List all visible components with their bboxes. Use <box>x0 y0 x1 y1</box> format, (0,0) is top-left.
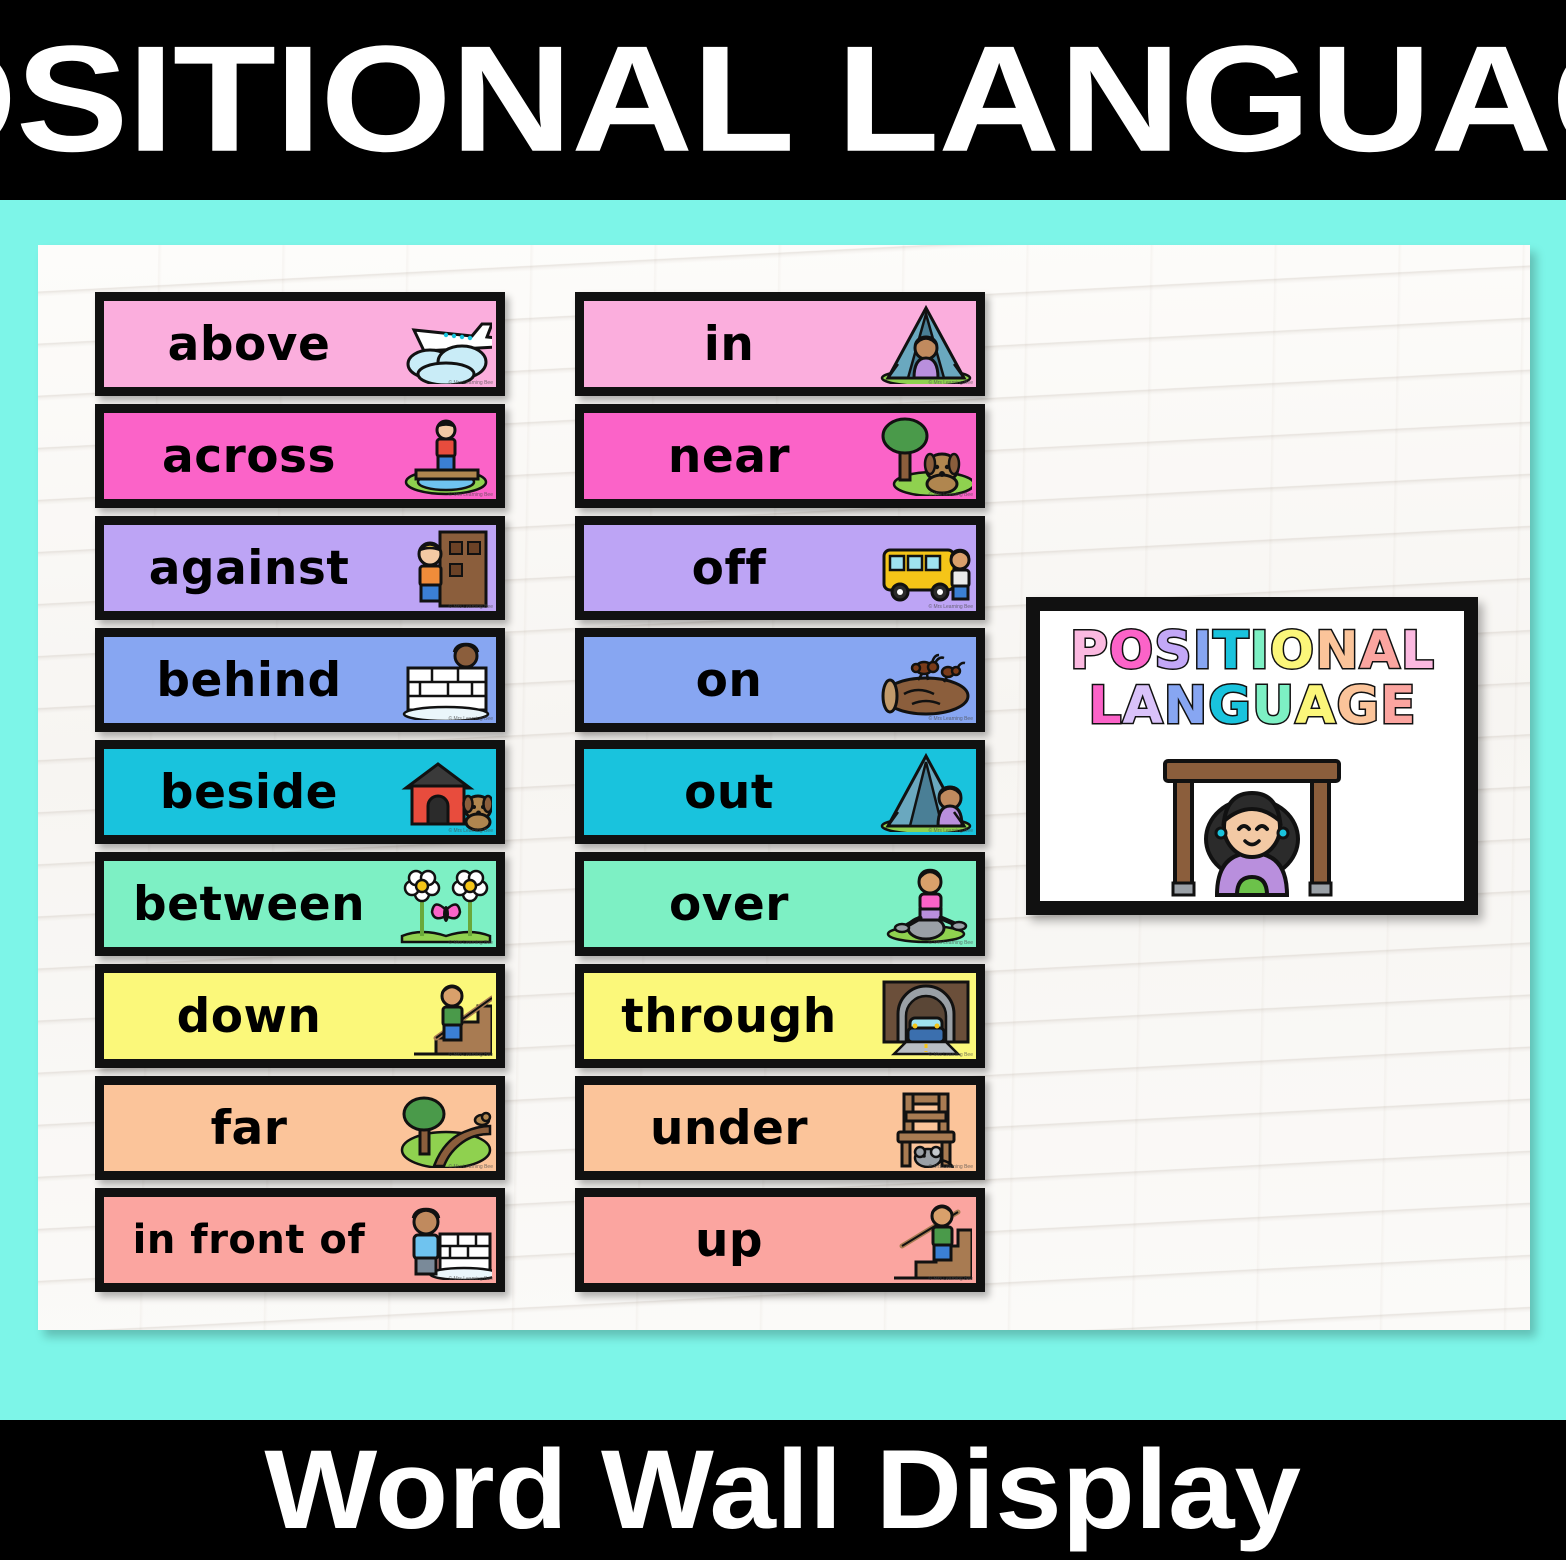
word-card-through[interactable]: through © Mrs Learning Bee <box>575 964 985 1068</box>
copyright-watermark: © Mrs Learning Bee <box>928 1052 973 1058</box>
word-card-label: off <box>584 545 880 592</box>
far-away-path-tree-icon <box>400 1088 492 1168</box>
copyright-watermark: © Mrs Learning Bee <box>448 716 493 722</box>
word-card-face: over © Mrs Learning Bee <box>584 861 976 947</box>
footer-subtitle: Word Wall Display <box>265 1434 1302 1546</box>
word-card-face: between © Mrs Learning Bee <box>104 861 496 947</box>
copyright-watermark: © Mrs Learning Bee <box>928 380 973 386</box>
word-card-face: behind © Mrs Learning Bee <box>104 637 496 723</box>
word-card-label: down <box>104 993 400 1040</box>
word-card-label: over <box>584 881 880 928</box>
title-letter: O <box>1109 625 1153 677</box>
copyright-watermark: © Mrs Learning Bee <box>928 1164 973 1170</box>
word-card-beside[interactable]: beside © Mrs Learning Bee <box>95 740 505 844</box>
boy-walking-down-stairs-icon <box>400 976 492 1056</box>
title-letter: A <box>1360 625 1400 677</box>
title-card-inner: POSITIONAL LANGUAGE <box>1040 611 1464 901</box>
mouse-under-chair-icon <box>880 1088 972 1168</box>
car-through-tunnel-icon <box>880 976 972 1056</box>
word-card-in-front-of[interactable]: in front of © Mrs Learning Bee <box>95 1188 505 1292</box>
word-card-in[interactable]: in © Mrs Learning Bee <box>575 292 985 396</box>
word-card-up[interactable]: up © Mrs Learning Bee <box>575 1188 985 1292</box>
title-letter: A <box>1122 680 1162 732</box>
word-card-label: far <box>104 1105 400 1152</box>
word-card-face: near © Mrs Learning Bee <box>584 413 976 499</box>
header-banner: POSITIONAL LANGUAGE <box>0 0 1566 200</box>
word-card-on[interactable]: on © Mrs Learning Bee <box>575 628 985 732</box>
word-card-face: out © Mrs Learning Bee <box>584 749 976 835</box>
word-card-face: beside © Mrs Learning Bee <box>104 749 496 835</box>
word-card-label: through <box>584 993 880 1040</box>
word-card-face: far © Mrs Learning Bee <box>104 1085 496 1171</box>
word-card-face: under © Mrs Learning Bee <box>584 1085 976 1171</box>
word-card-label: in <box>584 321 880 368</box>
word-card-over[interactable]: over © Mrs Learning Bee <box>575 852 985 956</box>
copyright-watermark: © Mrs Learning Bee <box>448 828 493 834</box>
word-card-label: between <box>104 881 400 928</box>
word-card-between[interactable]: between © Mrs Learning Bee <box>95 852 505 956</box>
word-card-far[interactable]: far © Mrs Learning Bee <box>95 1076 505 1180</box>
word-card-above[interactable]: above © Mrs Learning Bee <box>95 292 505 396</box>
word-card-under[interactable]: under © Mrs Learning Bee <box>575 1076 985 1180</box>
title-letter: I <box>1250 625 1269 677</box>
child-out-of-tent-icon <box>880 752 972 832</box>
copyright-watermark: © Mrs Learning Bee <box>928 940 973 946</box>
poster-root: POSITIONAL LANGUAGE above © Mrs Learning… <box>0 0 1566 1560</box>
word-card-label: against <box>104 545 400 592</box>
title-line-language: LANGUAGE <box>1040 680 1464 732</box>
copyright-watermark: © Mrs Learning Bee <box>928 604 973 610</box>
title-letter: N <box>1315 625 1359 677</box>
word-card-label: above <box>104 321 400 368</box>
word-card-face: through © Mrs Learning Bee <box>584 973 976 1059</box>
title-line-positional: POSITIONAL <box>1040 625 1464 677</box>
word-card-face: off © Mrs Learning Bee <box>584 525 976 611</box>
copyright-watermark: © Mrs Learning Bee <box>448 380 493 386</box>
ants-on-log-icon <box>880 640 972 720</box>
girl-sitting-under-table-icon <box>1147 753 1357 901</box>
boy-leaning-on-door-icon <box>400 528 492 608</box>
copyright-watermark: © Mrs Learning Bee <box>928 716 973 722</box>
word-card-face: down © Mrs Learning Bee <box>104 973 496 1059</box>
word-card-behind[interactable]: behind © Mrs Learning Bee <box>95 628 505 732</box>
child-off-bus-icon <box>880 528 972 608</box>
footer-banner: Word Wall Display <box>0 1420 1566 1560</box>
word-card-label: up <box>584 1217 880 1264</box>
title-letter: S <box>1154 625 1191 677</box>
boy-walking-up-stairs-icon <box>880 1200 972 1280</box>
word-card-face: up © Mrs Learning Bee <box>584 1197 976 1283</box>
word-card-face: against © Mrs Learning Bee <box>104 525 496 611</box>
copyright-watermark: © Mrs Learning Bee <box>928 828 973 834</box>
airplane-above-clouds-icon <box>400 304 492 384</box>
title-letter: G <box>1336 680 1379 732</box>
copyright-watermark: © Mrs Learning Bee <box>448 940 493 946</box>
word-card-label: across <box>104 433 400 480</box>
title-letter: U <box>1252 680 1294 732</box>
word-card-face: in © Mrs Learning Bee <box>584 301 976 387</box>
word-card-face: above © Mrs Learning Bee <box>104 301 496 387</box>
butterfly-between-flowers-icon <box>400 864 492 944</box>
title-letter: L <box>1401 625 1434 677</box>
title-letter: G <box>1208 680 1251 732</box>
word-card-face: in front of © Mrs Learning Bee <box>104 1197 496 1283</box>
copyright-watermark: © Mrs Learning Bee <box>448 1164 493 1170</box>
word-card-label: near <box>584 433 880 480</box>
word-card-across[interactable]: across © Mrs Learning Bee <box>95 404 505 508</box>
dog-near-tree-icon <box>880 416 972 496</box>
title-letter: T <box>1213 625 1248 677</box>
child-in-front-of-wall-icon <box>400 1200 492 1280</box>
title-letter: O <box>1270 625 1314 677</box>
copyright-watermark: © Mrs Learning Bee <box>928 492 973 498</box>
word-card-out[interactable]: out © Mrs Learning Bee <box>575 740 985 844</box>
copyright-watermark: © Mrs Learning Bee <box>448 492 493 498</box>
word-card-face: on © Mrs Learning Bee <box>584 637 976 723</box>
word-card-off[interactable]: off © Mrs Learning Bee <box>575 516 985 620</box>
word-card-label: out <box>584 769 880 816</box>
title-letter: E <box>1380 680 1416 732</box>
copyright-watermark: © Mrs Learning Bee <box>448 604 493 610</box>
word-card-face: across © Mrs Learning Bee <box>104 413 496 499</box>
copyright-watermark: © Mrs Learning Bee <box>928 1276 973 1282</box>
girl-jumping-over-rock-icon <box>880 864 972 944</box>
word-card-label: on <box>584 657 880 704</box>
title-letter: L <box>1088 680 1121 732</box>
title-letter: I <box>1193 625 1212 677</box>
copyright-watermark: © Mrs Learning Bee <box>448 1052 493 1058</box>
word-card-down[interactable]: down © Mrs Learning Bee <box>95 964 505 1068</box>
word-card-label: beside <box>104 769 400 816</box>
child-in-tent-icon <box>880 304 972 384</box>
word-card-near[interactable]: near © Mrs Learning Bee <box>575 404 985 508</box>
title-letter: A <box>1295 680 1335 732</box>
page-title: POSITIONAL LANGUAGE <box>0 24 1566 175</box>
word-card-label: behind <box>104 657 400 704</box>
title-letter: N <box>1164 680 1208 732</box>
word-card-against[interactable]: against © Mrs Learning Bee <box>95 516 505 620</box>
positional-language-title-card: POSITIONAL LANGUAGE <box>1026 597 1478 915</box>
word-card-label: under <box>584 1105 880 1152</box>
copyright-watermark: © Mrs Learning Bee <box>448 1276 493 1282</box>
title-letter: P <box>1070 625 1108 677</box>
child-behind-wall-icon <box>400 640 492 720</box>
dog-beside-kennel-icon <box>400 752 492 832</box>
word-card-label: in front of <box>104 1220 400 1260</box>
boy-crossing-bridge-icon <box>400 416 492 496</box>
